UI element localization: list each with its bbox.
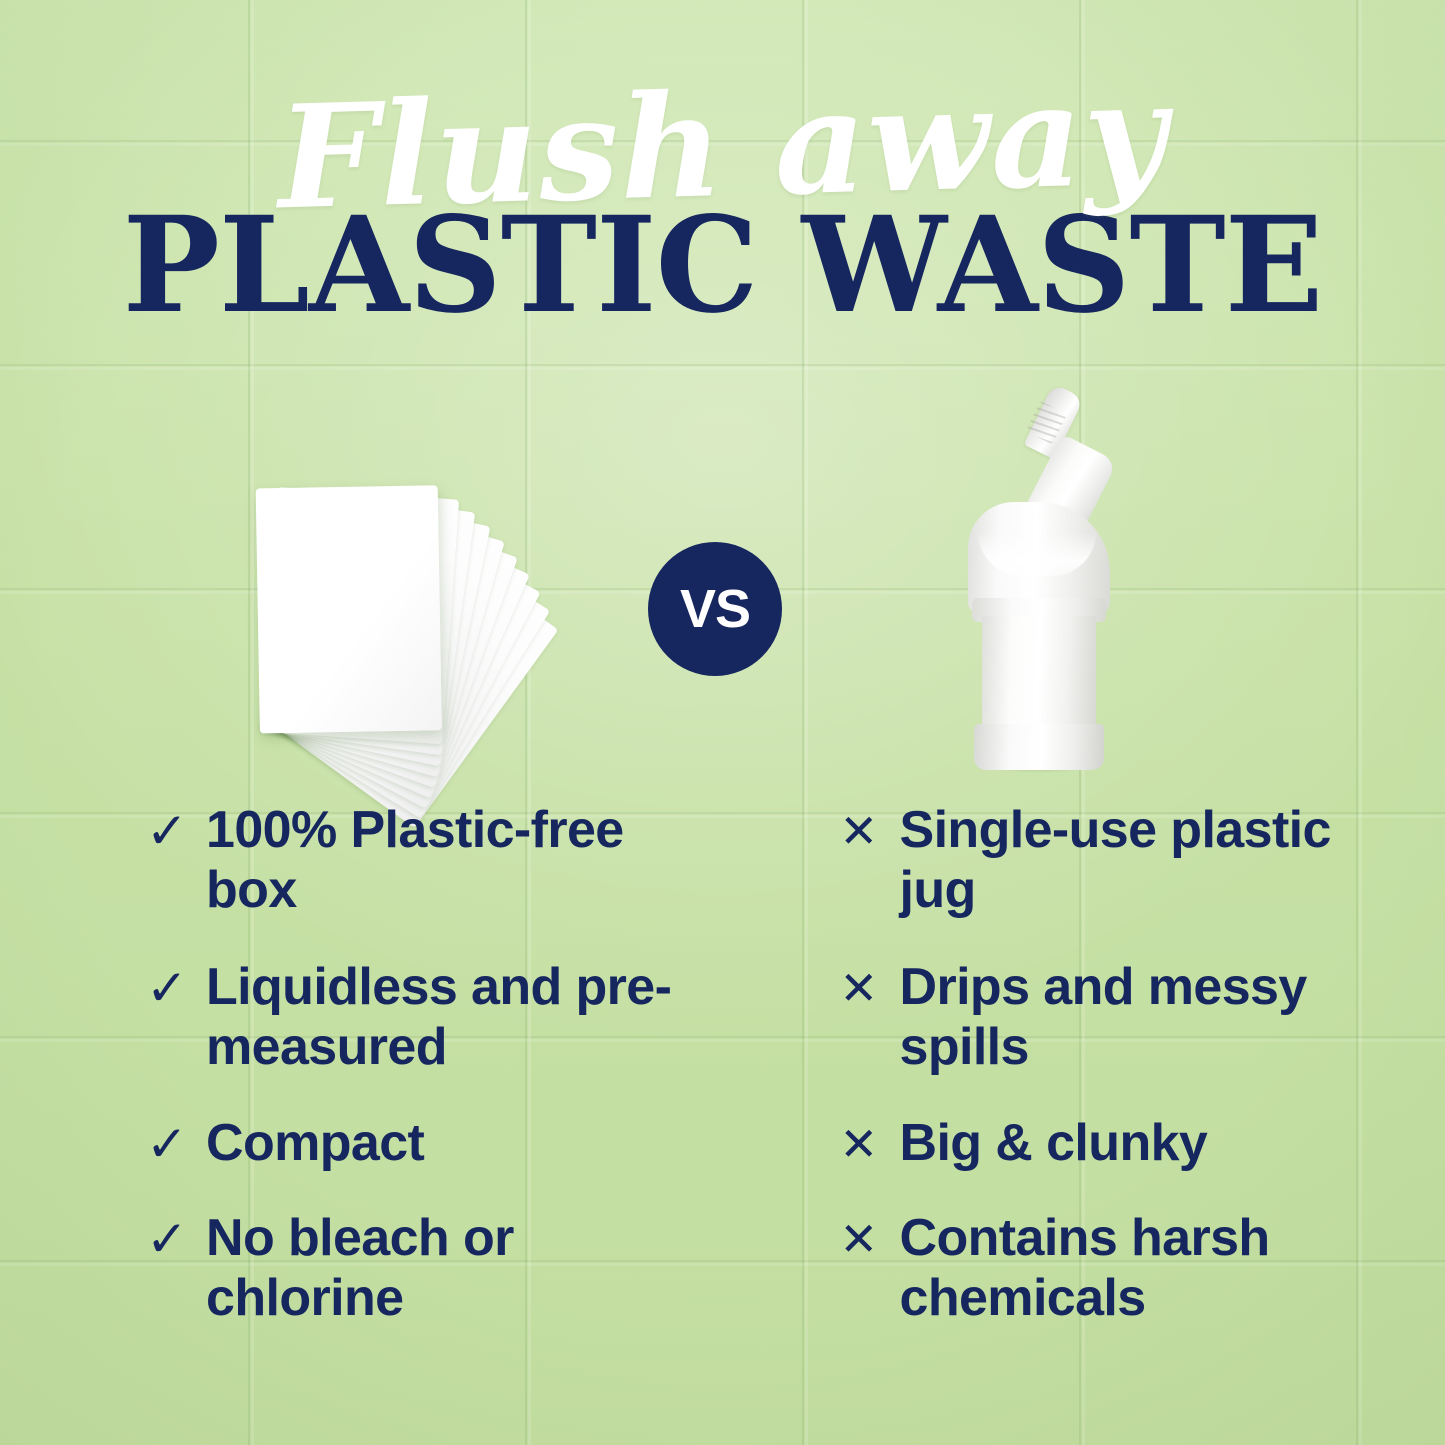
check-icon: ✓ <box>146 1208 206 1264</box>
cross-icon: ✕ <box>840 1208 900 1262</box>
list-item: ✓ No bleach or chlorine <box>146 1208 752 1329</box>
cross-icon: ✕ <box>840 1113 900 1167</box>
comparison-lists: ✓ 100% Plastic-free box ✓ Liquidless and… <box>0 800 1445 1400</box>
drawbacks-column: ✕ Single-use plastic jug ✕ Drips and mes… <box>752 800 1445 1400</box>
list-item-label: Drips and messy spills <box>900 957 1370 1078</box>
vs-label: VS <box>680 582 750 636</box>
list-item-label: Liquidless and pre-measured <box>206 957 676 1078</box>
list-item: ✕ Contains harsh chemicals <box>840 1208 1445 1329</box>
list-item: ✓ Compact <box>146 1113 752 1173</box>
dissolvable-sheets-icon <box>196 468 616 768</box>
list-item-label: 100% Plastic-free box <box>206 800 676 921</box>
vs-badge: VS <box>648 542 782 676</box>
list-item-label: Compact <box>206 1113 424 1173</box>
poster-canvas: Flush away PLASTIC WASTE VS <box>0 0 1445 1445</box>
bottle-body <box>982 616 1096 732</box>
check-icon: ✓ <box>146 1113 206 1169</box>
list-item-label: Single-use plastic jug <box>900 800 1370 921</box>
benefits-column: ✓ 100% Plastic-free box ✓ Liquidless and… <box>0 800 752 1400</box>
plastic-bottle-icon <box>944 384 1134 776</box>
list-item-label: Big & clunky <box>900 1113 1208 1173</box>
list-item: ✕ Big & clunky <box>840 1113 1445 1173</box>
cross-icon: ✕ <box>840 800 900 854</box>
list-item: ✓ 100% Plastic-free box <box>146 800 752 921</box>
list-item: ✓ Liquidless and pre-measured <box>146 957 752 1078</box>
check-icon: ✓ <box>146 957 206 1013</box>
list-item-label: No bleach or chlorine <box>206 1208 676 1329</box>
sheet-layer-top <box>256 485 442 733</box>
product-comparison-row: VS <box>0 372 1445 782</box>
list-item: ✕ Single-use plastic jug <box>840 800 1445 921</box>
list-item: ✕ Drips and messy spills <box>840 957 1445 1078</box>
list-item-label: Contains harsh chemicals <box>900 1208 1370 1329</box>
headline-block: Flush away PLASTIC WASTE <box>0 74 1445 328</box>
check-icon: ✓ <box>146 800 206 856</box>
bottle-base <box>974 724 1104 770</box>
cross-icon: ✕ <box>840 957 900 1011</box>
